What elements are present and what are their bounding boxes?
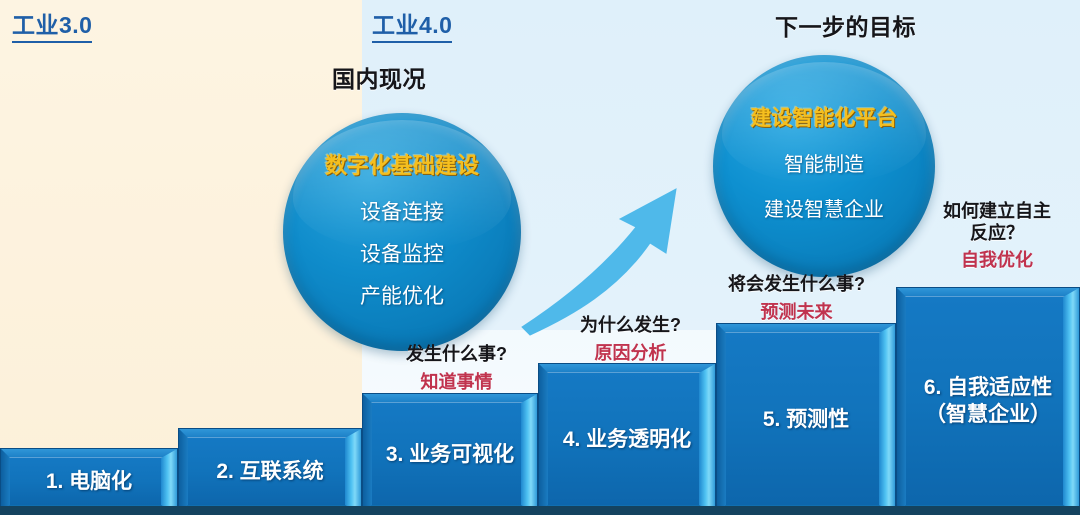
- circle-1-line-3: 产能优化: [360, 280, 444, 310]
- step-6-label-main: 6. 自我适应性: [924, 376, 1052, 399]
- circle-2-title: 建设智能化平台: [751, 102, 898, 132]
- step-4[interactable]: 4. 业务透明化: [538, 363, 716, 515]
- step-1[interactable]: 1. 电脑化: [0, 448, 178, 515]
- step-6-left-bevel: [897, 288, 906, 514]
- annotation-step-6: 如何建立自主 反应？ 自我优化: [943, 200, 1051, 272]
- annotation-step-4: 为什么发生? 原因分析: [580, 311, 681, 365]
- step-5-label: 5. 预测性: [763, 406, 849, 433]
- annotation-6-question-line-2: 反应？: [943, 222, 1051, 244]
- heading-industry-30: 工业3.0: [12, 6, 92, 43]
- step-1-label: 1. 电脑化: [46, 468, 132, 495]
- circle-1-line-1: 设备连接: [360, 196, 444, 226]
- step-4-label: 4. 业务透明化: [563, 426, 691, 453]
- step-3-left-bevel: [363, 394, 372, 514]
- step-6-label-sub: （智慧企业）: [924, 401, 1052, 428]
- circle-2-line-2: 建设智慧企业: [764, 193, 884, 222]
- annotation-step-3: 发生什么事? 知道事情: [406, 340, 507, 394]
- step-3[interactable]: 3. 业务可视化: [362, 393, 538, 515]
- slide-canvas: 工业3.0 工业4.0 国内现况 下一步的目标 数字化基础建设 设备连接 设备监…: [0, 0, 1080, 515]
- circle-2-line-1: 智能制造: [784, 148, 864, 177]
- current-state-circle: 数字化基础建设 设备连接 设备监控 产能优化: [283, 113, 521, 351]
- annotation-5-question: 将会发生什么事?: [728, 270, 865, 296]
- step-5-left-bevel: [717, 324, 726, 514]
- step-2-label: 2. 互联系统: [216, 458, 323, 485]
- heading-next-goal: 下一步的目标: [775, 8, 916, 42]
- circle-1-line-2: 设备监控: [360, 238, 444, 268]
- target-state-circle: 建设智能化平台 智能制造 建设智慧企业: [713, 55, 935, 277]
- annotation-3-answer: 知道事情: [406, 368, 507, 394]
- circle-1-title: 数字化基础建设: [325, 148, 479, 180]
- step-3-label: 3. 业务可视化: [386, 441, 514, 468]
- annotation-step-5: 将会发生什么事? 预测未来: [728, 270, 865, 324]
- step-4-left-bevel: [539, 364, 548, 514]
- step-2-left-bevel: [179, 429, 188, 514]
- step-1-left-bevel: [1, 449, 10, 514]
- annotation-6-question-line-1: 如何建立自主: [943, 200, 1051, 222]
- bottom-strip: [0, 506, 1080, 515]
- heading-domestic-status: 国内现况: [332, 60, 426, 94]
- heading-industry-40: 工业4.0: [372, 6, 452, 43]
- annotation-4-answer: 原因分析: [580, 339, 681, 365]
- annotation-5-answer: 预测未来: [728, 298, 865, 324]
- step-6-label: 6. 自我适应性 （智慧企业）: [924, 374, 1052, 428]
- step-5[interactable]: 5. 预测性: [716, 323, 896, 515]
- step-6[interactable]: 6. 自我适应性 （智慧企业）: [896, 287, 1080, 515]
- step-2[interactable]: 2. 互联系统: [178, 428, 362, 515]
- annotation-3-question: 发生什么事?: [406, 340, 507, 366]
- annotation-6-answer: 自我优化: [943, 246, 1051, 272]
- annotation-4-question: 为什么发生?: [580, 311, 681, 337]
